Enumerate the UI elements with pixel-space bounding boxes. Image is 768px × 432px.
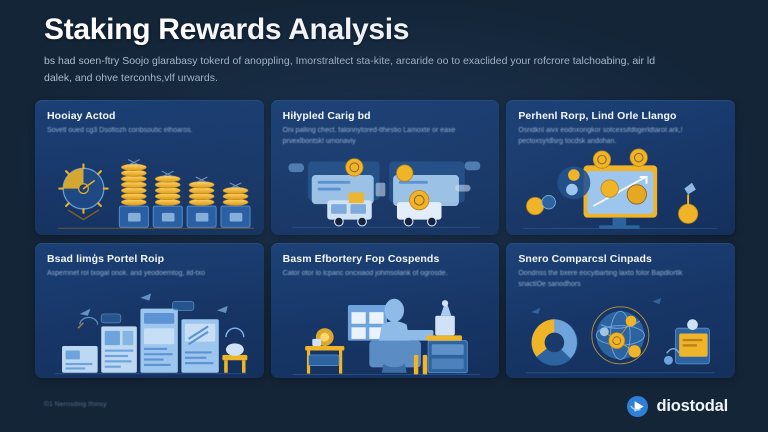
card-workspace-scene[interactable]: Basm Efbortery Fop Cospends Cator otor l… — [271, 243, 500, 378]
card-header: Perhenl Rorp, Lind Orle Llango Osndknl a… — [506, 100, 735, 148]
doc-bar-3 — [140, 309, 177, 373]
card-description: Oni palling chect. falonnytored-tlhestio… — [283, 126, 475, 148]
page-subtitle: bs had soen-ftry Soojo glarabasy tokerd … — [44, 53, 684, 87]
desk-left — [305, 328, 344, 373]
card-description: Cator otor lo lcpanc oncxiaod johmsolank… — [283, 269, 475, 280]
card-description: Osndknl aivx eodnxongkor sotcexsifdtiger… — [518, 126, 710, 148]
coin-group-left — [527, 195, 556, 214]
card-header: Snero Comparcsl Cinpads Oondnss the bxer… — [506, 243, 735, 291]
card-illustration-donut-globe — [506, 289, 735, 378]
coin-lamp-right — [679, 183, 698, 224]
donut-chart — [532, 319, 578, 365]
card-header: Basm Efbortery Fop Cospends Cator otor l… — [271, 243, 500, 280]
card-title: Snero Comparcsl Cinpads — [518, 253, 723, 265]
play-circle-icon — [626, 395, 649, 418]
card-donut-globe[interactable]: Snero Comparcsl Cinpads Oondnss the bxer… — [506, 243, 735, 378]
stack-2 — [155, 176, 180, 206]
page-title: Staking Rewards Analysis — [44, 14, 728, 46]
card-document-bars[interactable]: Bsad limģs Portel Roip Aspernnet rol txo… — [35, 243, 264, 378]
card-grid: Hooiay Actod Sovetl oued cg3 Dsoflozh co… — [35, 100, 735, 378]
card-description: Aspernnet rol txogal onok. and yeodoemto… — [47, 269, 239, 280]
card-header: Hiłypled Carig bd Oni palling chect. fal… — [271, 100, 500, 148]
coin-stack-group — [119, 159, 250, 227]
card-coin-stacks[interactable]: Hooiay Actod Sovetl oued cg3 Dsoflozh co… — [35, 100, 264, 235]
coin-screen-2 — [627, 185, 646, 204]
card-growth-chart[interactable]: Perhenl Rorp, Lind Orle Llango Osndknl a… — [506, 100, 735, 235]
card-title: Perhenl Rorp, Lind Orle Llango — [518, 110, 723, 122]
card-description: Sovetl oued cg3 Dsoflozh conbsoutic elho… — [47, 126, 239, 137]
card-title: Hiłypled Carig bd — [283, 110, 488, 122]
doc-bar-1 — [62, 346, 98, 373]
slide-canvas: Staking Rewards Analysis bs had soen-ftr… — [0, 0, 768, 432]
card-header: Bsad limģs Portel Roip Aspernnet rol txo… — [35, 243, 264, 280]
header: Staking Rewards Analysis bs had soen-ftr… — [44, 14, 728, 87]
card-illustration-delivery-panels — [271, 146, 500, 235]
leaf-icons — [532, 298, 662, 314]
truck-left — [327, 200, 372, 226]
stack-4 — [223, 187, 248, 205]
card-header: Hooiay Actod Sovetl oued cg3 Dsoflozh co… — [35, 100, 264, 137]
coin-screen-1 — [601, 180, 618, 197]
doc-bar-2 — [101, 326, 137, 372]
card-title: Hooiay Actod — [47, 110, 252, 122]
disc-cluster-left — [558, 166, 591, 199]
card-illustration-document-bars — [35, 289, 264, 378]
gauge-gear-icon — [59, 164, 107, 219]
stack-3 — [189, 181, 214, 205]
footer-note: ©1 Nernsding Ifonsy — [44, 401, 107, 408]
card-illustration-workspace — [271, 289, 500, 378]
card-delivery-panels[interactable]: Hiłypled Carig bd Oni palling chect. fal… — [271, 100, 500, 235]
gold-bench — [222, 328, 247, 373]
card-illustration-growth-chart — [506, 146, 735, 235]
card-illustration-coin-stacks — [35, 146, 264, 235]
card-description: Oondnss the bxere eocyibarting laxto fol… — [518, 269, 710, 291]
cabinet-right — [426, 300, 467, 373]
stack-1 — [121, 164, 146, 205]
brand-lockup: diostodal — [626, 395, 728, 418]
brand-name: diostodal — [656, 397, 728, 416]
gold-document — [664, 319, 709, 364]
panel-left — [308, 161, 380, 204]
doc-bar-4 — [181, 319, 218, 372]
card-title: Basm Efbortery Fop Cospends — [283, 253, 488, 265]
globe-network — [592, 307, 649, 364]
card-title: Bsad limģs Portel Roip — [47, 253, 252, 265]
